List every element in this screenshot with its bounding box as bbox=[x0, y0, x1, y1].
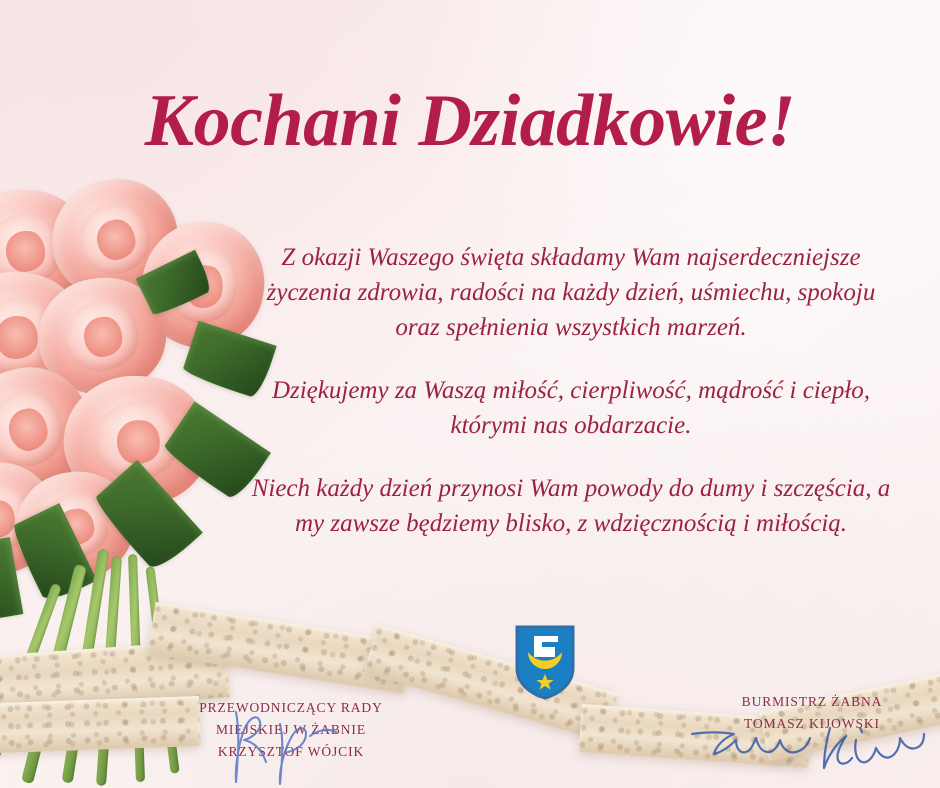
message-paragraph-3: Niech każdy dzień przynosi Wam powody do… bbox=[248, 471, 894, 541]
zabno-coat-of-arms-icon bbox=[515, 624, 575, 700]
rose bbox=[0, 190, 90, 310]
signature-block-mayor: BURMISTRZ ŻABNA TOMASZ KIJOWSKI bbox=[700, 691, 924, 735]
rose bbox=[0, 265, 92, 407]
stem bbox=[21, 564, 87, 784]
message-paragraph-1: Z okazji Waszego święta składamy Wam naj… bbox=[248, 240, 894, 345]
lace-segment bbox=[364, 625, 618, 742]
stem bbox=[128, 554, 145, 782]
page-title: Kochani Dziadkowie! bbox=[0, 84, 940, 158]
rose bbox=[34, 274, 170, 399]
greeting-card: Kochani Dziadkowie! Z okazji Waszego świ… bbox=[0, 0, 940, 788]
signature-line: KRZYSZTOF WÓJCIK bbox=[186, 741, 396, 763]
rose bbox=[11, 466, 140, 586]
signature-line: TOMASZ KIJOWSKI bbox=[700, 713, 924, 735]
stem bbox=[0, 583, 62, 786]
signature-block-chairman: PRZEWODNICZĄCY RADY MIEJSKIEJ W ŻABNIE K… bbox=[186, 697, 396, 763]
leaf bbox=[136, 250, 215, 318]
stem bbox=[96, 556, 122, 786]
message-paragraph-2: Dziękujemy za Waszą miłość, cierpliwość,… bbox=[248, 373, 894, 443]
rose bbox=[0, 454, 63, 582]
greeting-message: Z okazji Waszego święta składamy Wam naj… bbox=[248, 240, 894, 541]
signature-line: BURMISTRZ ŻABNA bbox=[700, 691, 924, 713]
leaf bbox=[91, 460, 203, 574]
leaf bbox=[9, 503, 97, 605]
signature-line: MIEJSKIEJ W ŻABNIE bbox=[186, 719, 396, 741]
lace-segment bbox=[148, 602, 413, 694]
leaf bbox=[0, 537, 23, 623]
lace-segment bbox=[0, 696, 201, 754]
stem bbox=[145, 566, 179, 774]
stem bbox=[62, 549, 110, 784]
signature-line: PRZEWODNICZĄCY RADY bbox=[186, 697, 396, 719]
rose bbox=[0, 356, 101, 502]
rose bbox=[59, 370, 216, 512]
rose bbox=[44, 171, 187, 307]
